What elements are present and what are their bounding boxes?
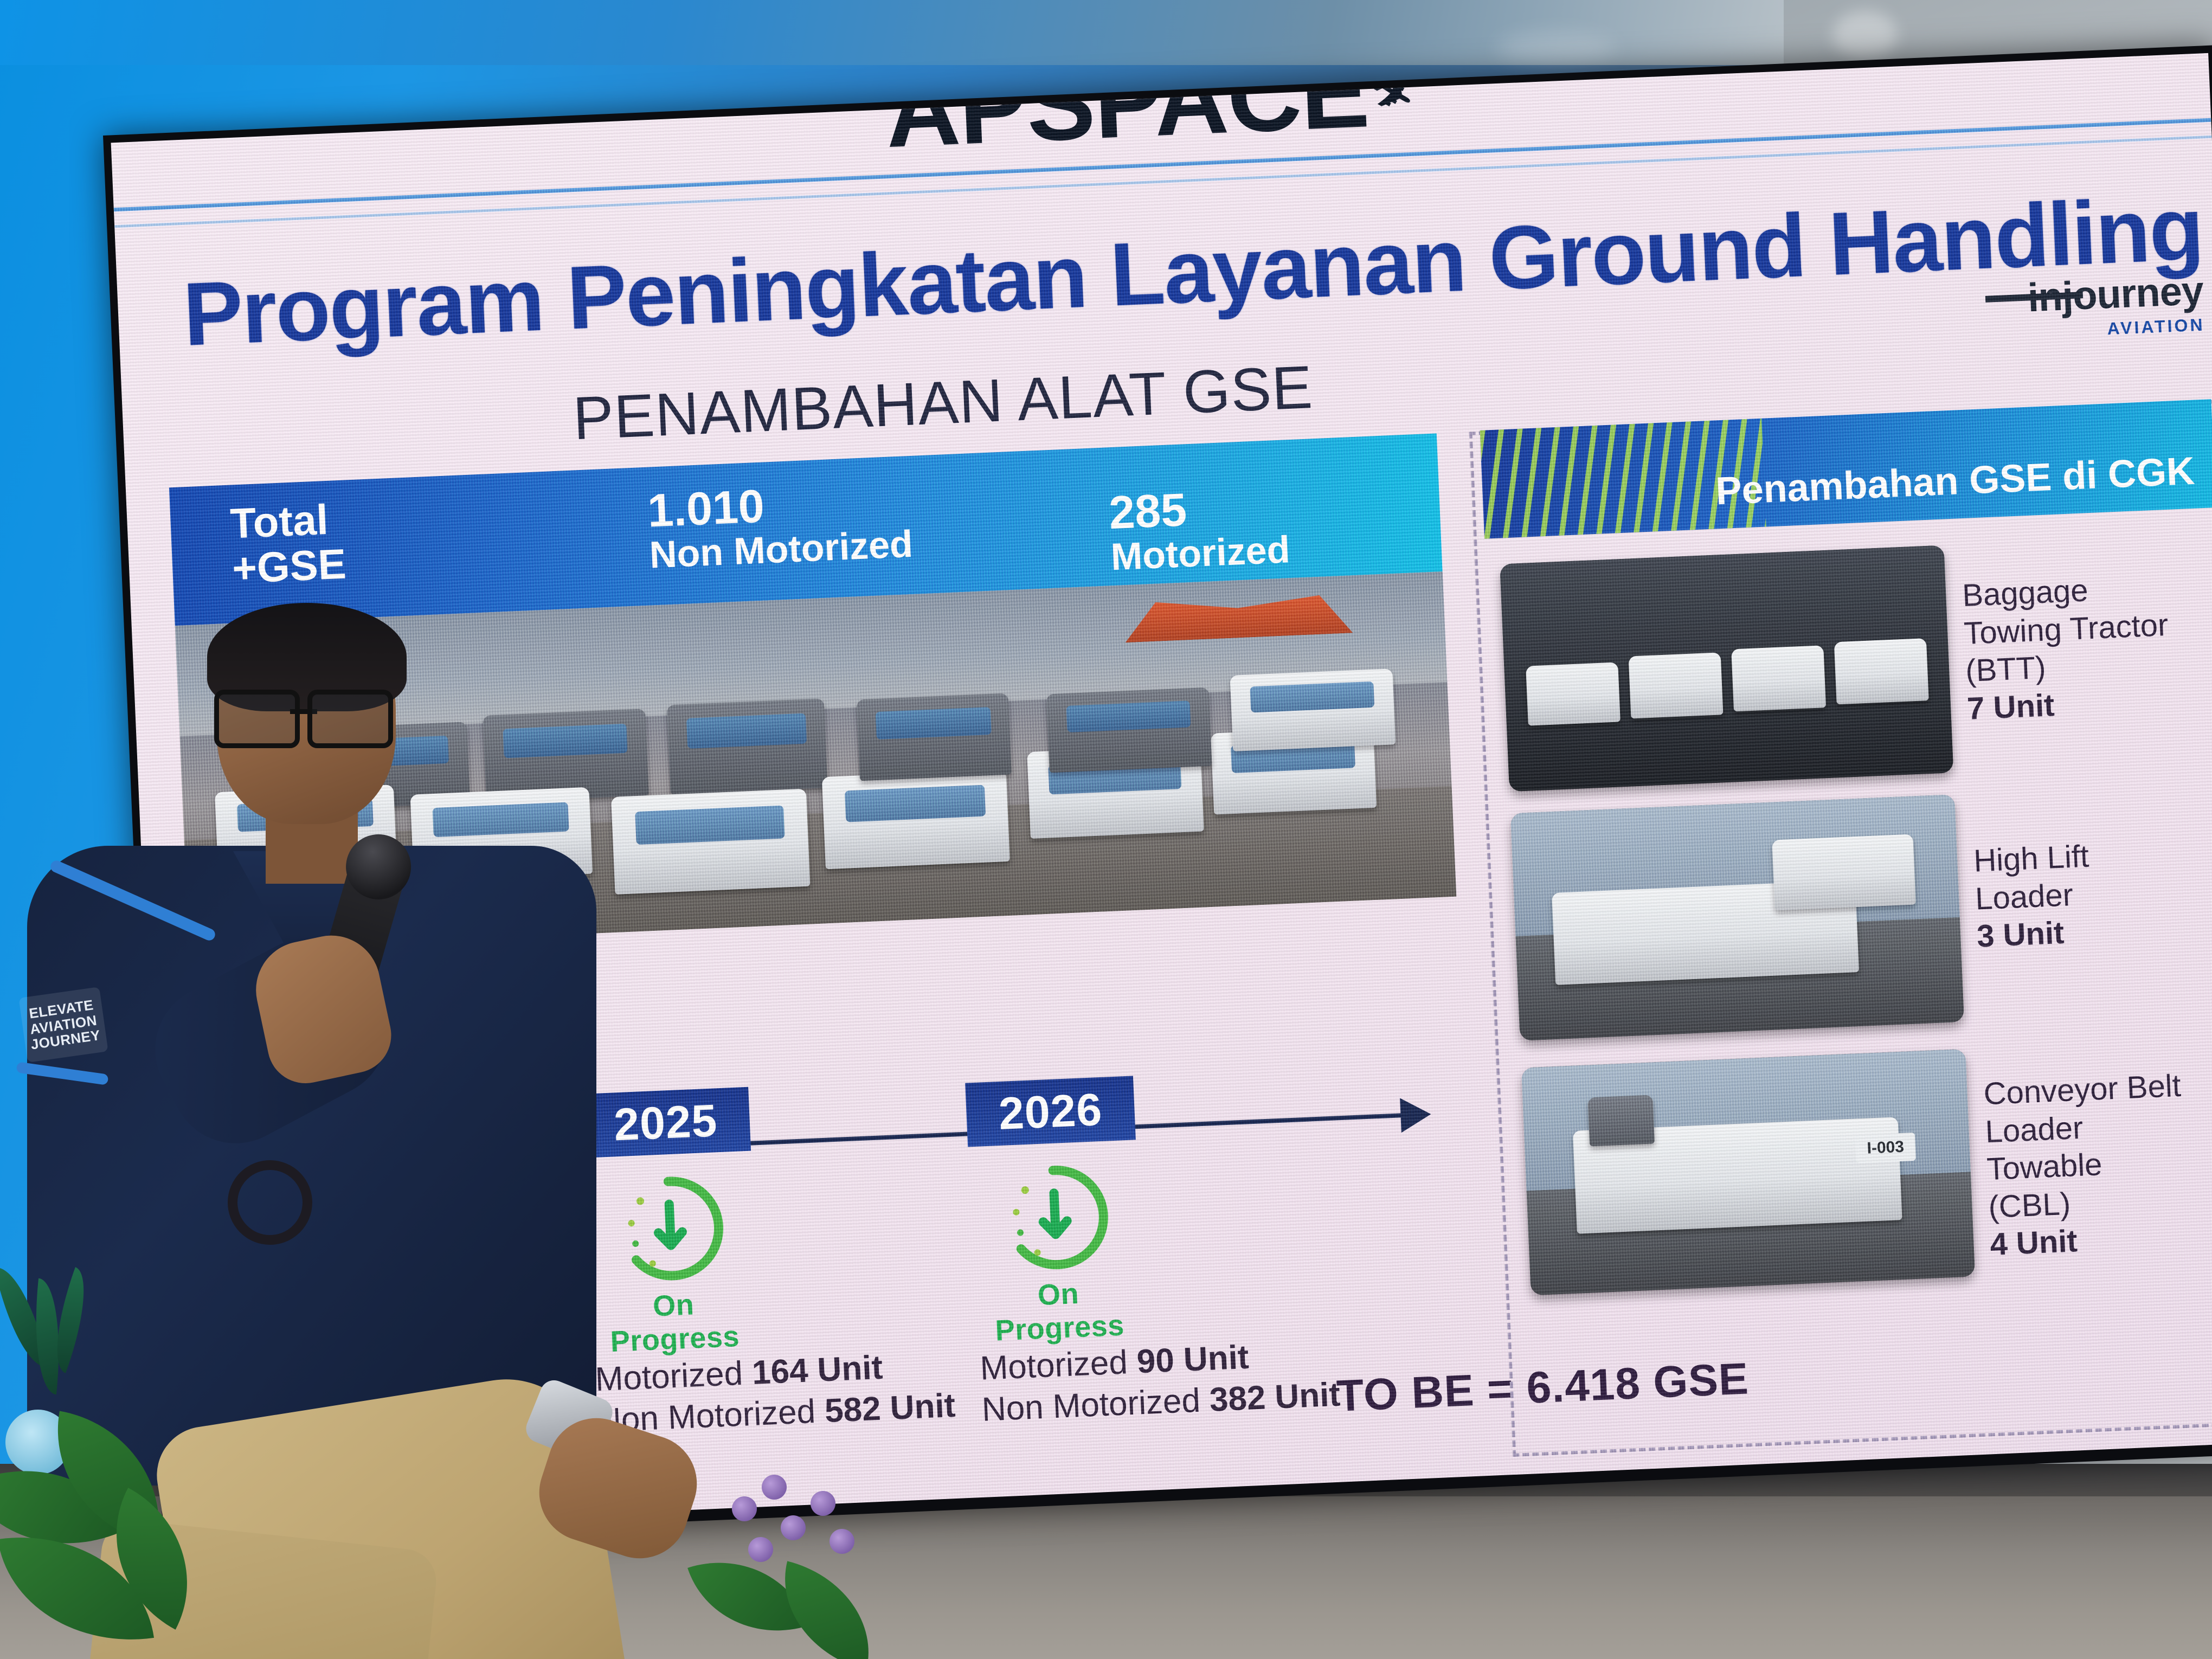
eyeglasses-icon — [214, 690, 393, 742]
progress-ring-icon — [996, 1158, 1115, 1277]
motorized-total: 285 Motorized — [1108, 482, 1291, 578]
total-gse-label-line2: +GSE — [232, 541, 348, 591]
gse-label-hll: High Lift Loader 3 Unit — [1973, 838, 2093, 956]
plant-center-foreground — [667, 1464, 949, 1659]
gse-label-cbl: Conveyor Belt Loader Towable (CBL) 4 Uni… — [1983, 1067, 2188, 1264]
injourney-subtitle: AVIATION — [2029, 316, 2205, 341]
cgk-panel-header-label: Penambahan GSE di CGK — [1715, 449, 2196, 514]
gse-vehicle — [1046, 687, 1212, 773]
cgk-panel-header: Penambahan GSE di CGK — [1480, 399, 2212, 539]
photo-scene: APSPACE✈ injourney AVIATION Program Peni… — [0, 0, 2212, 1659]
total-gse-label: Total +GSE — [229, 497, 347, 591]
gse-label-hll-line1: High Lift — [1973, 838, 2090, 880]
non-motorized-2025-value: 582 Unit — [824, 1387, 956, 1430]
gse-photo-hll — [1510, 794, 1964, 1041]
gse-vehicle — [1230, 668, 1396, 751]
apspace-logo-text: APSPACE — [883, 53, 1371, 169]
non-motorized-2026-label: Non Motorized — [981, 1381, 1201, 1428]
motorized-2026: Motorized 90 Unit — [979, 1341, 1143, 1389]
gse-label-cbl-code: (CBL) — [1988, 1180, 2187, 1226]
gse-label-btt: Baggage Towing Tractor (BTT) 7 Unit — [1962, 568, 2172, 728]
motorized-total-label: Motorized — [1110, 529, 1291, 578]
gse-label-btt-units: 7 Unit — [1966, 687, 2055, 726]
non-motorized-2026: Non Motorized 382 Unit — [981, 1382, 1145, 1430]
apspace-logo: APSPACE✈ — [883, 53, 1416, 171]
gse-vehicle — [822, 769, 1010, 869]
motorized-2026-label: Motorized — [979, 1343, 1128, 1387]
non-motorized-total: 1.010 Non Motorized — [647, 477, 914, 576]
status-badge-2026: On Progress — [976, 1274, 1142, 1348]
motorized-total-value: 285 — [1108, 482, 1289, 536]
total-gse-label-line1: Total — [229, 497, 345, 546]
gse-label-cbl-units: 4 Unit — [1989, 1224, 2078, 1263]
timeline-year-2026-label: 2026 — [998, 1083, 1103, 1140]
gse-vehicle — [857, 693, 1012, 781]
gse-label-btt-code: (BTT) — [1965, 644, 2171, 690]
motorized-2026-value: 90 Unit — [1136, 1339, 1249, 1381]
wall-highlight — [1832, 11, 1898, 60]
gse-label-hll-line2: Loader — [1975, 875, 2092, 918]
vehicle-tag: I-003 — [1855, 1133, 1916, 1163]
cgk-gse-panel: Penambahan GSE di CGK Baggage Towing Tra… — [1469, 400, 2212, 1457]
slide-title: Program Peningkatan Layanan Ground Handl… — [181, 177, 2205, 366]
gse-photo-cbl: I-003 — [1521, 1049, 1975, 1296]
non-motorized-2026-value: 382 Unit — [1209, 1375, 1341, 1418]
gse-label-hll-units: 3 Unit — [1976, 915, 2065, 954]
timeline-arrow-icon — [1400, 1097, 1432, 1133]
gse-photo-btt — [1500, 545, 1953, 792]
plant-left-foreground — [0, 1388, 211, 1659]
timeline-node-2026: On Progress Motorized 90 Unit Non Motori… — [972, 1157, 1146, 1430]
shoulder-patch: ELEVATE AVIATION JOURNEY — [18, 987, 108, 1063]
airplane-icon: ✈ — [1361, 58, 1425, 128]
shoulder-patch-text: ELEVATE AVIATION JOURNEY — [20, 996, 107, 1053]
wall-highlight-2 — [1496, 33, 1616, 65]
timeline-year-2026: 2026 — [965, 1076, 1136, 1147]
slide-subtitle: PENAMBAHAN ALAT GSE — [571, 352, 1314, 453]
